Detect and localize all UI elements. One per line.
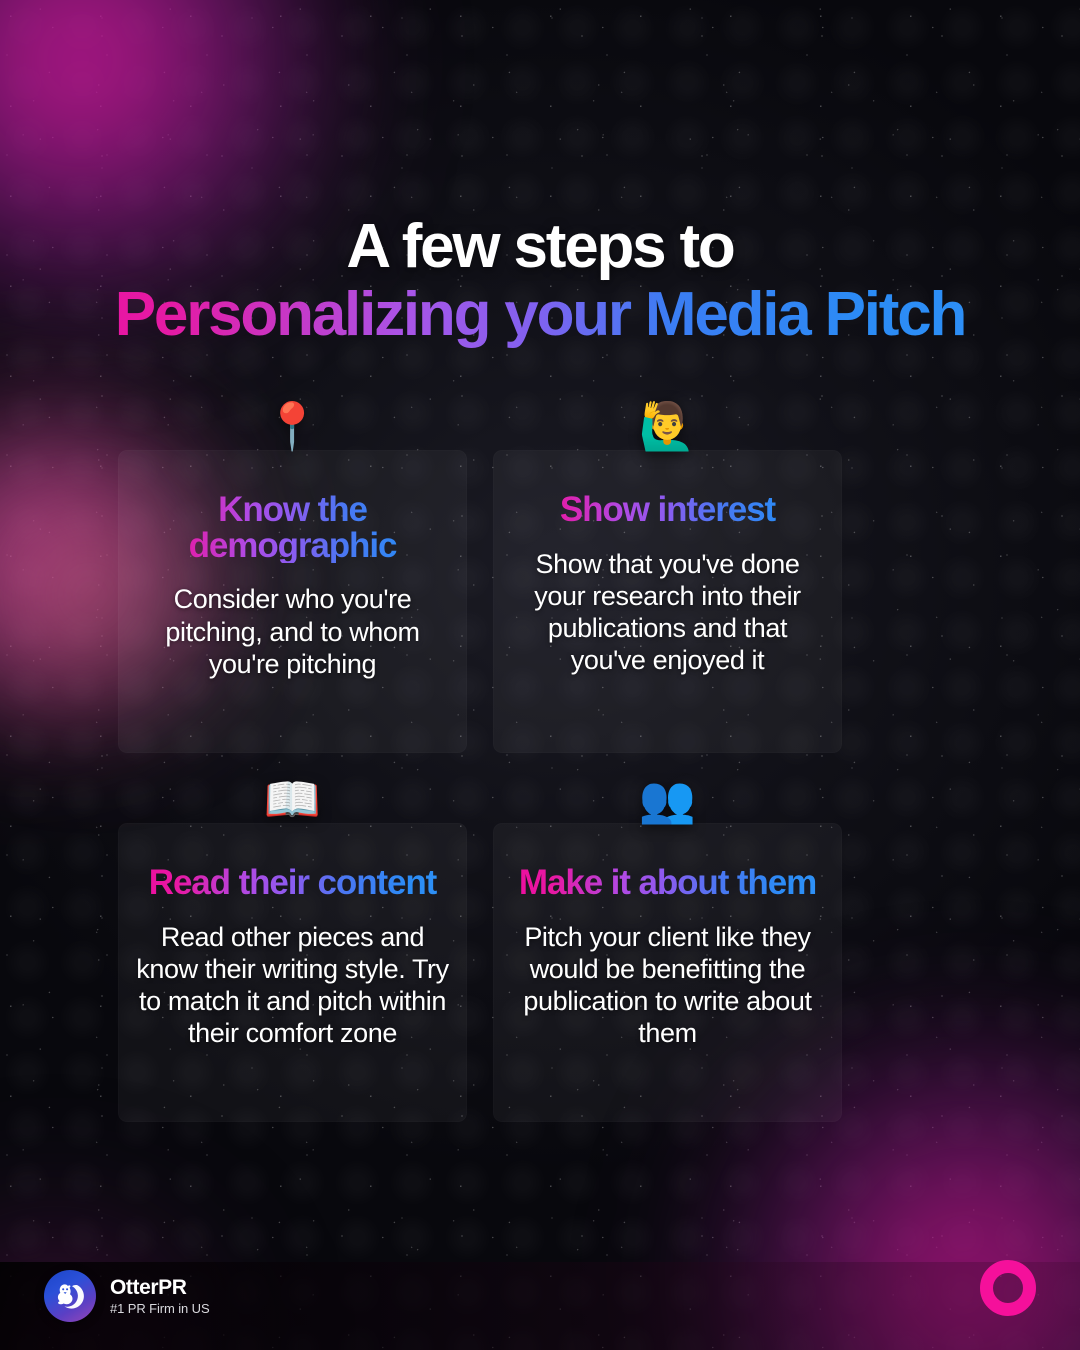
step-card-read-their-content: 📖 Read their content Read other pieces a… <box>118 823 467 1122</box>
step-card-show-interest: 🙋‍♂️ Show interest Show that you've done… <box>493 450 842 753</box>
brand-name: OtterPR <box>110 1277 210 1299</box>
busts-in-silhouette-icon: 👥 <box>493 776 842 822</box>
brand-footer: OtterPR #1 PR Firm in US <box>44 1270 210 1322</box>
content-layer: A few steps to Personalizing your Media … <box>0 0 1080 1350</box>
otter-logo-icon <box>44 1270 96 1322</box>
step-card-body: Read other pieces and know their writing… <box>132 921 453 1050</box>
brand-text-block: OtterPR #1 PR Firm in US <box>110 1277 210 1316</box>
steps-row-bottom: 📖 Read their content Read other pieces a… <box>118 823 963 1122</box>
infographic-canvas: A few steps to Personalizing your Media … <box>0 0 1080 1350</box>
steps-row-top: 📍 Know the demographic Consider who you'… <box>118 450 963 753</box>
step-card-know-the-demographic: 📍 Know the demographic Consider who you'… <box>118 450 467 753</box>
magenta-ring-icon <box>980 1260 1036 1316</box>
man-raising-hand-icon: 🙋‍♂️ <box>493 403 842 449</box>
round-pushpin-icon: 📍 <box>118 403 467 449</box>
headline-line-1: A few steps to <box>0 215 1080 278</box>
open-book-icon: 📖 <box>118 776 467 822</box>
step-card-body: Consider who you're pitching, and to who… <box>132 583 453 679</box>
step-card-title: Know the demographic <box>132 492 453 563</box>
brand-tagline: #1 PR Firm in US <box>110 1302 210 1316</box>
step-card-body: Pitch your client like they would be ben… <box>507 921 828 1050</box>
page-title: A few steps to Personalizing your Media … <box>0 215 1080 351</box>
step-card-title: Make it about them <box>507 865 828 901</box>
step-card-title: Show interest <box>507 492 828 528</box>
step-card-make-it-about-them: 👥 Make it about them Pitch your client l… <box>493 823 842 1122</box>
step-card-body: Show that you've done your research into… <box>507 548 828 677</box>
step-card-title: Read their content <box>132 865 453 901</box>
headline-line-2: Personalizing your Media Pitch <box>0 278 1080 351</box>
steps-grid: 📍 Know the demographic Consider who you'… <box>118 450 963 1122</box>
